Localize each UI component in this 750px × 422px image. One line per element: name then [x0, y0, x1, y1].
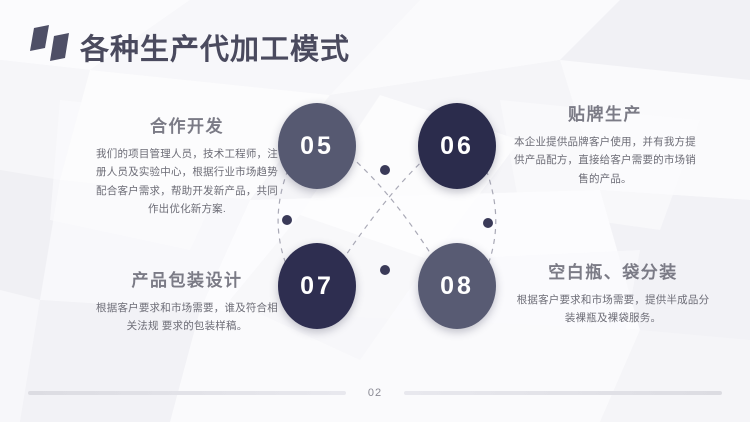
- slide-root: 各种生产代加工模式 05 06 07 08 合作开发 我们的项目管理人员，技术工…: [0, 0, 750, 422]
- slide-footer: 02: [0, 386, 750, 400]
- block-body-blank-bottle-bag: 根据客户要求和市场需要，提供半成品分装裸瓶及裸袋服务。: [516, 291, 710, 328]
- diagram-node-07[interactable]: 07: [278, 243, 356, 329]
- diagram-node-06[interactable]: 06: [418, 103, 496, 189]
- footer-rule-right: [404, 391, 722, 395]
- block-title-cooperative-development: 合作开发: [96, 112, 278, 137]
- slide-header: 各种生产代加工模式: [0, 0, 750, 82]
- diagram-node-05[interactable]: 05: [278, 103, 356, 189]
- page-title: 各种生产代加工模式: [80, 26, 350, 68]
- content-block-bottom-left: 产品包装设计 根据客户要求和市场需要，谁及符合相关法规 要求的包装样稿。: [96, 266, 278, 336]
- footer-page-number: 02: [364, 387, 386, 399]
- block-body-cooperative-development: 我们的项目管理人员，技术工程师，注册人员及实验中心，根据行业市场趋势配合客户需求…: [96, 145, 278, 219]
- block-title-blank-bottle-bag: 空白瓶、袋分装: [516, 258, 710, 283]
- content-block-top-right: 贴牌生产 本企业提供品牌客户使用，并有我方提供产品配方，直接给客户需要的市场销售…: [510, 100, 700, 188]
- double-parallelogram-logo-icon: [30, 24, 74, 62]
- content-block-bottom-right: 空白瓶、袋分装 根据客户要求和市场需要，提供半成品分装裸瓶及裸袋服务。: [516, 258, 710, 328]
- diagram-node-08[interactable]: 08: [418, 243, 496, 329]
- content-block-top-left: 合作开发 我们的项目管理人员，技术工程师，注册人员及实验中心，根据行业市场趋势配…: [96, 112, 278, 219]
- block-title-package-design: 产品包装设计: [96, 266, 278, 291]
- footer-rule-left: [28, 391, 346, 395]
- block-title-oem-production: 贴牌生产: [510, 100, 700, 125]
- block-body-oem-production: 本企业提供品牌客户使用，并有我方提供产品配方，直接给客户需要的市场销售的产品。: [510, 133, 700, 188]
- block-body-package-design: 根据客户要求和市场需要，谁及符合相关法规 要求的包装样稿。: [96, 299, 278, 336]
